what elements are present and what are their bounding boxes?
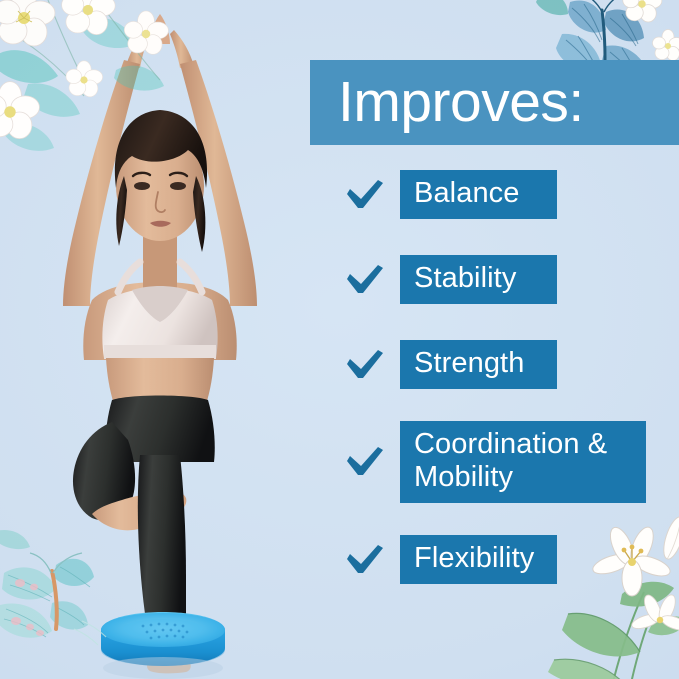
benefit-item-strength[interactable]: Strength bbox=[345, 340, 679, 389]
checkmark-icon bbox=[345, 263, 385, 297]
benefit-item-coordination-mobility[interactable]: Coordination & Mobility bbox=[345, 421, 679, 503]
benefit-label: Coordination & Mobility bbox=[400, 421, 646, 503]
benefit-item-stability[interactable]: Stability bbox=[345, 255, 679, 304]
photo-subject-woman-tree-pose bbox=[0, 0, 320, 679]
checkmark-icon bbox=[345, 445, 385, 479]
benefits-list: Balance Stability Strength bbox=[345, 170, 679, 584]
checkmark-icon bbox=[345, 178, 385, 212]
benefit-item-flexibility[interactable]: Flexibility bbox=[345, 535, 679, 584]
checkmark-icon bbox=[345, 543, 385, 577]
benefit-label: Flexibility bbox=[400, 535, 557, 584]
poster-canvas: Improves: Balance Stability bbox=[0, 0, 679, 679]
page-title: Improves: bbox=[310, 74, 584, 131]
benefit-item-balance[interactable]: Balance bbox=[345, 170, 679, 219]
benefit-label: Strength bbox=[400, 340, 557, 389]
checkmark-icon bbox=[345, 348, 385, 382]
benefit-label: Balance bbox=[400, 170, 557, 219]
benefit-label: Stability bbox=[400, 255, 557, 304]
header-banner: Improves: bbox=[310, 60, 679, 145]
